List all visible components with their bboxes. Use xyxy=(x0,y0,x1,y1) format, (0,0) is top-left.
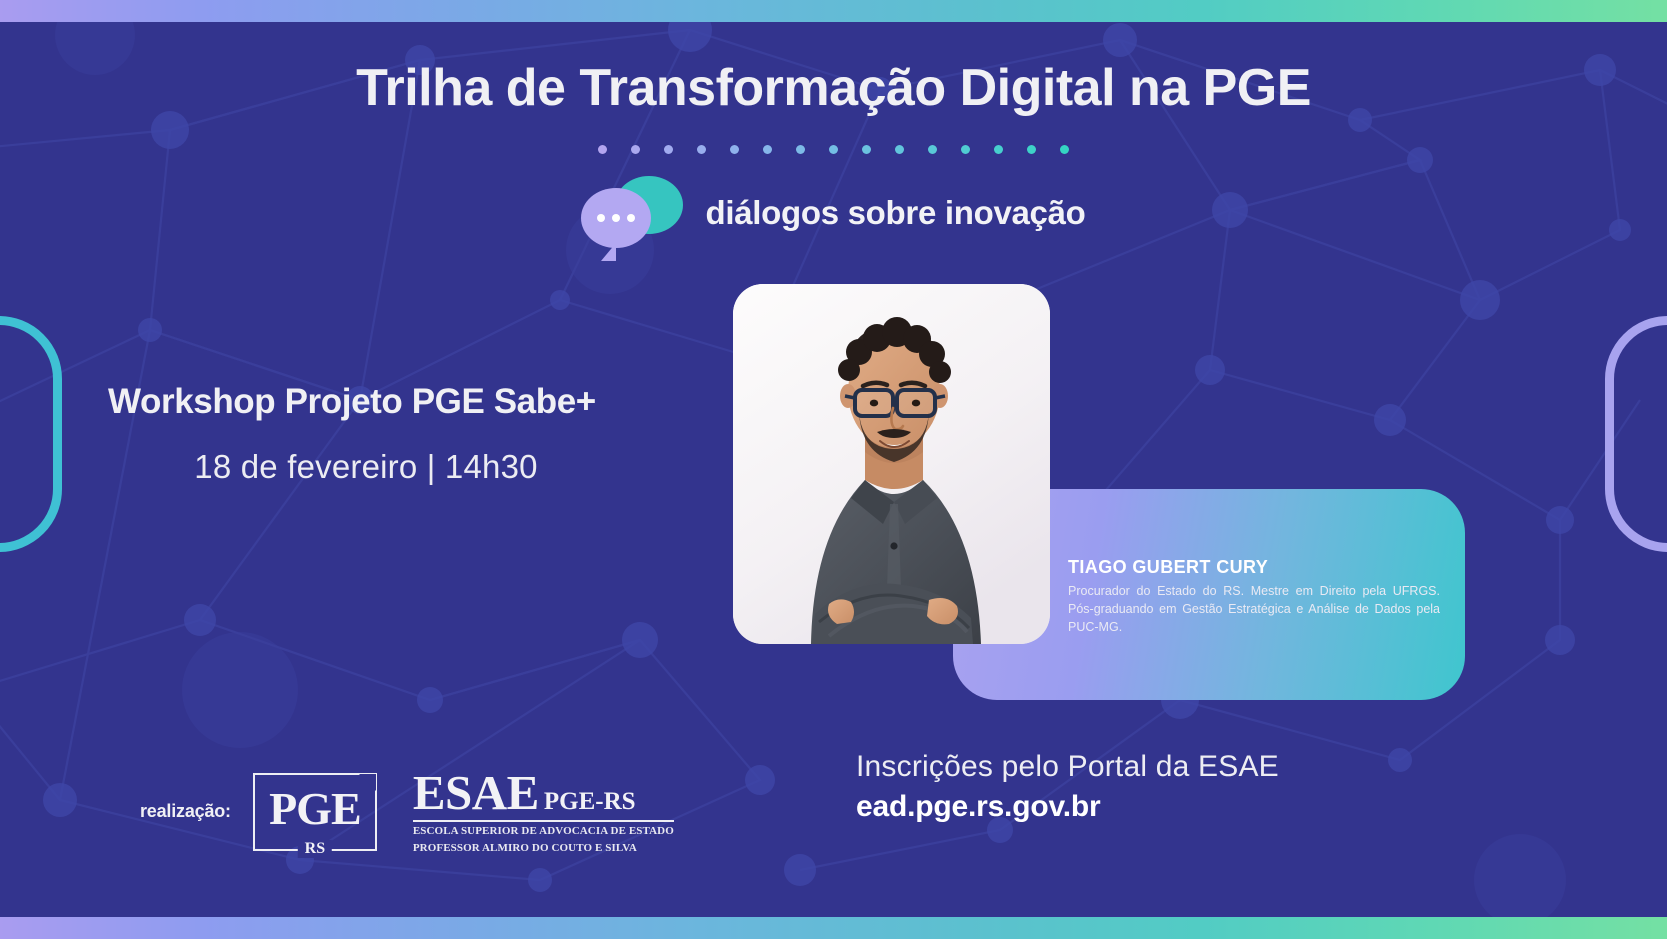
footer-logos: realização: PGE RS ESAE PGE-RS ESCOLA SU… xyxy=(140,768,674,856)
divider-dot xyxy=(664,145,673,154)
esae-logo-mark: ESAE xyxy=(413,768,539,817)
bottom-gradient-bar xyxy=(0,917,1667,939)
event-info-block: Workshop Projeto PGE Sabe+ 18 de feverei… xyxy=(108,382,708,486)
top-gradient-bar xyxy=(0,0,1667,22)
registration-text: Inscrições pelo Portal da ESAE xyxy=(856,750,1279,784)
esae-logo-suffix: PGE-RS xyxy=(544,788,636,816)
page-title: Trilha de Transformação Digital na PGE xyxy=(0,58,1667,118)
esae-logo-line1: ESCOLA SUPERIOR DE ADVOCACIA DE ESTADO xyxy=(413,825,674,839)
pge-logo-mark: PGE xyxy=(269,786,361,832)
speech-bubble-purple-icon xyxy=(581,188,651,248)
esae-logo-rule xyxy=(413,820,674,822)
subtitle-row: diálogos sobre inovação xyxy=(0,176,1667,250)
divider-dot xyxy=(631,145,640,154)
divider-dot xyxy=(598,145,607,154)
divider-dot xyxy=(895,145,904,154)
divider-dot xyxy=(1027,145,1036,154)
dotted-divider xyxy=(0,145,1667,154)
speaker-info: TIAGO GUBERT CURY Procurador do Estado d… xyxy=(1068,557,1440,636)
divider-dot xyxy=(829,145,838,154)
divider-dot xyxy=(961,145,970,154)
speaker-bio: Procurador do Estado do RS. Mestre em Di… xyxy=(1068,582,1440,636)
esae-logo-line2: PROFESSOR ALMIRO DO COUTO E SILVA xyxy=(413,842,674,856)
esae-logo: ESAE PGE-RS ESCOLA SUPERIOR DE ADVOCACIA… xyxy=(413,768,674,856)
left-bracket-decoration xyxy=(0,316,62,552)
pge-logo-corner xyxy=(359,774,376,791)
registration-url[interactable]: ead.pge.rs.gov.br xyxy=(856,790,1279,824)
event-name: Workshop Projeto PGE Sabe+ xyxy=(108,382,708,422)
divider-dot xyxy=(994,145,1003,154)
divider-dot xyxy=(697,145,706,154)
registration-block: Inscrições pelo Portal da ESAE ead.pge.r… xyxy=(856,750,1279,824)
subtitle-text: diálogos sobre inovação xyxy=(705,194,1085,232)
pge-logo-state: RS xyxy=(298,840,332,858)
speaker-name: TIAGO GUBERT CURY xyxy=(1068,557,1440,578)
divider-dot xyxy=(928,145,937,154)
divider-dot xyxy=(730,145,739,154)
divider-dot xyxy=(1060,145,1069,154)
realizacao-label: realização: xyxy=(140,801,231,822)
speech-bubble-dots-icon xyxy=(581,176,687,250)
event-date: 18 de fevereiro | 14h30 xyxy=(108,448,708,486)
divider-dot xyxy=(796,145,805,154)
right-bracket-decoration xyxy=(1605,316,1667,552)
speaker-portrait-photo xyxy=(733,284,1050,644)
event-banner: Trilha de Transformação Digital na PGE d… xyxy=(0,0,1667,939)
esae-logo-main: ESAE PGE-RS xyxy=(413,768,674,817)
pge-rs-logo: PGE RS xyxy=(253,773,377,851)
divider-dot xyxy=(763,145,772,154)
divider-dot xyxy=(862,145,871,154)
